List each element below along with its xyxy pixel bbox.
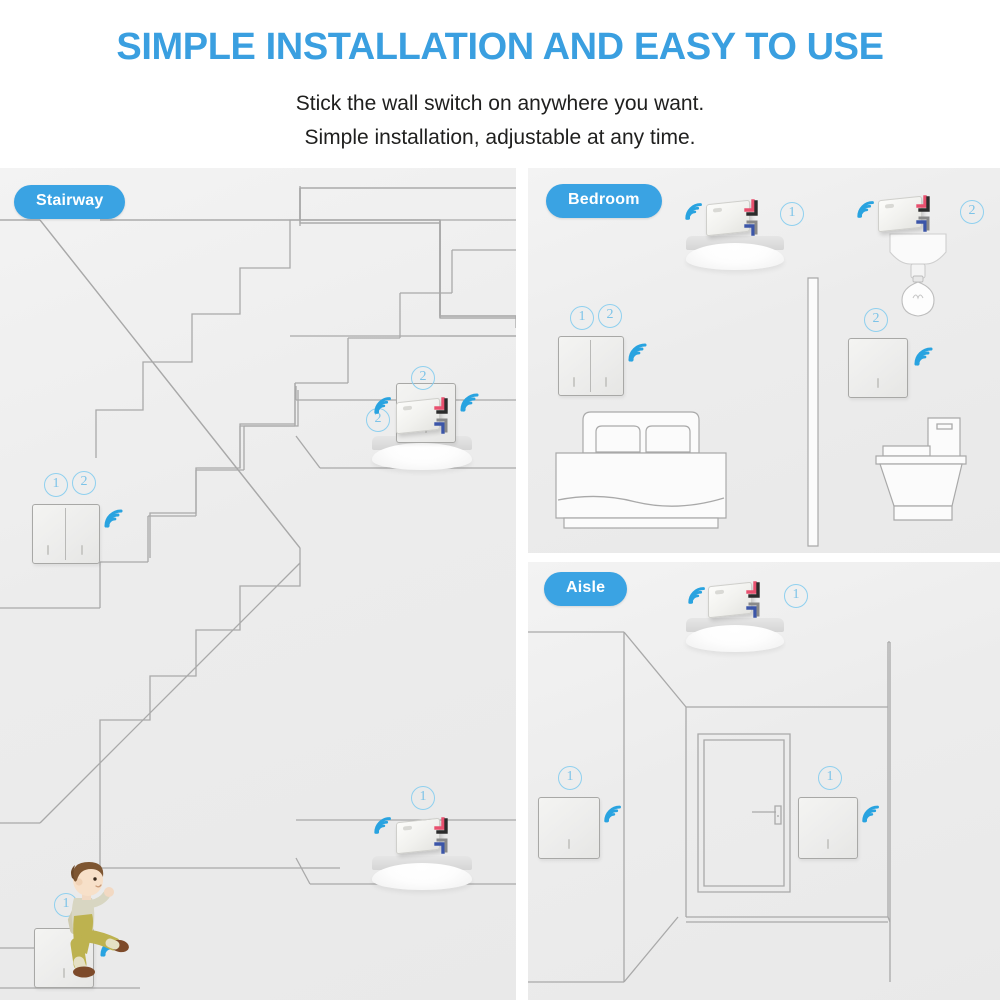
wifi-icon [372,394,396,416]
number-badge-1: 1 [818,766,842,790]
receiver-wires [706,196,766,240]
panel-stairway: Stairway 1 2 2 [0,168,516,1000]
lamp-dome [686,243,784,270]
wifi-icon [855,198,879,220]
room-badge-aisle: Aisle [544,572,627,606]
gang-divider [65,508,66,560]
receiver-wires [708,578,768,622]
number-badge-1: 1 [784,584,808,608]
rocker-2[interactable] [81,545,83,555]
lamp-dome [372,863,472,890]
gang-divider [590,340,591,392]
switch-2gang-upper-left[interactable] [32,504,100,564]
lamp-dome [686,625,784,652]
receiver-wires [396,394,456,438]
header: SIMPLE INSTALLATION AND EASY TO USE Stic… [0,0,1000,165]
number-badge-2: 2 [864,308,888,332]
wifi-icon [686,584,710,606]
door [698,734,790,892]
number-badge-2: 2 [411,366,435,390]
wifi-icon [860,802,884,825]
wifi-icon [102,506,128,530]
subtitle-line-1: Stick the wall switch on anywhere you wa… [0,92,1000,116]
number-badge-2: 2 [598,304,622,328]
rocker-1[interactable] [573,377,575,387]
ceiling-lamp [686,236,784,270]
receiver-module [706,196,766,240]
receiver-wires [396,814,456,858]
receiver-module [396,814,456,858]
toilet-outline [876,418,966,520]
bed-outline [556,412,726,528]
receiver-module [878,192,938,236]
rocker-1[interactable] [568,839,570,849]
number-badge-1: 1 [44,473,68,497]
ceiling-lamp [686,618,784,652]
subtitle-line-2: Simple installation, adjustable at any t… [0,126,1000,150]
ceiling-lamp [372,856,472,890]
number-badge-1: 1 [558,766,582,790]
receiver-module [396,394,456,438]
number-badge-2: 2 [72,471,96,495]
wall-divider [808,278,818,546]
rocker-1[interactable] [47,545,49,555]
wifi-icon [602,802,626,825]
rocker-1[interactable] [877,378,879,388]
wifi-icon [912,344,938,368]
rocker-2[interactable] [605,377,607,387]
switch-1gang-aisle-left[interactable] [538,797,600,859]
panel-bedroom: Bedroom [528,168,1000,553]
page-title: SIMPLE INSTALLATION AND EASY TO USE [0,26,1000,69]
receiver-module [708,578,768,622]
number-badge-1: 1 [780,202,804,226]
number-badge-2: 2 [960,200,984,224]
wifi-icon [372,814,396,836]
number-badge-1: 1 [411,786,435,810]
switch-1gang-bathroom[interactable] [848,338,908,398]
wifi-icon [458,390,484,414]
wifi-icon [683,200,707,222]
room-badge-stairway: Stairway [14,185,125,219]
rocker-1[interactable] [827,839,829,849]
number-badge-1: 1 [570,306,594,330]
pendant-bulb-fixture [868,230,968,320]
wifi-icon [626,340,652,364]
boy-climbing-stairs-illustration [44,858,154,978]
panel-aisle: Aisle [528,562,1000,1000]
switch-1gang-aisle-right[interactable] [798,797,858,859]
switch-2gang-bedroom[interactable] [558,336,624,396]
room-badge-bedroom: Bedroom [546,184,662,218]
receiver-wires [878,192,938,236]
lamp-dome [372,443,472,470]
